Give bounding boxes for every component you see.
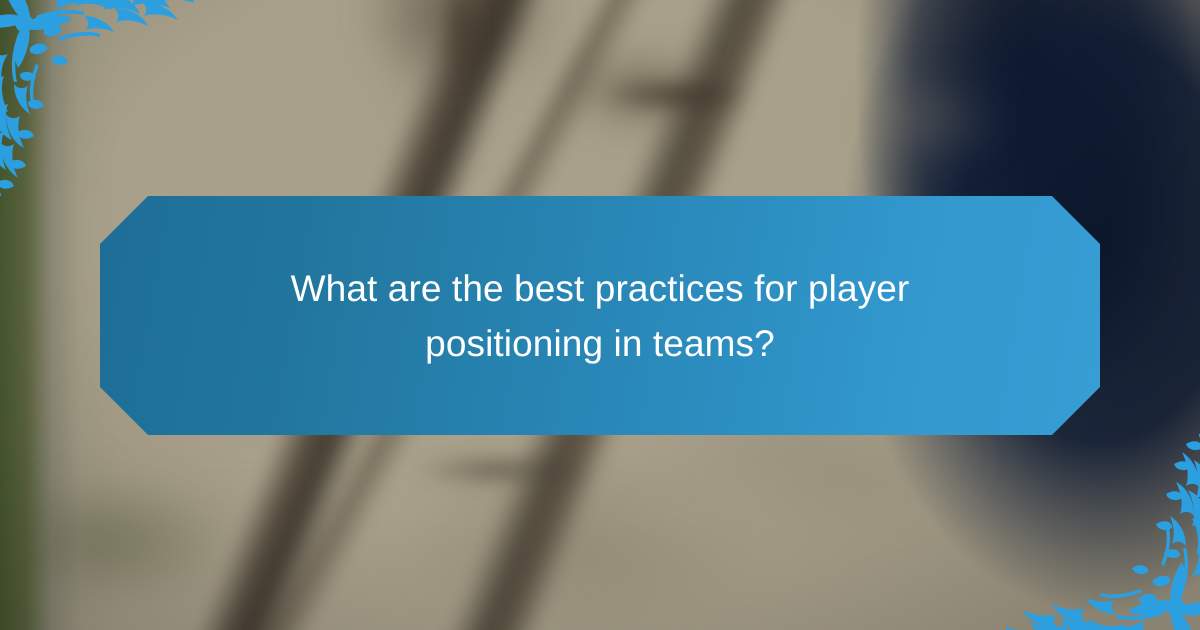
headline-banner: What are the best practices for player p… — [100, 196, 1100, 435]
share-card: What are the best practices for player p… — [0, 0, 1200, 630]
page-title: What are the best practices for player p… — [220, 261, 980, 371]
